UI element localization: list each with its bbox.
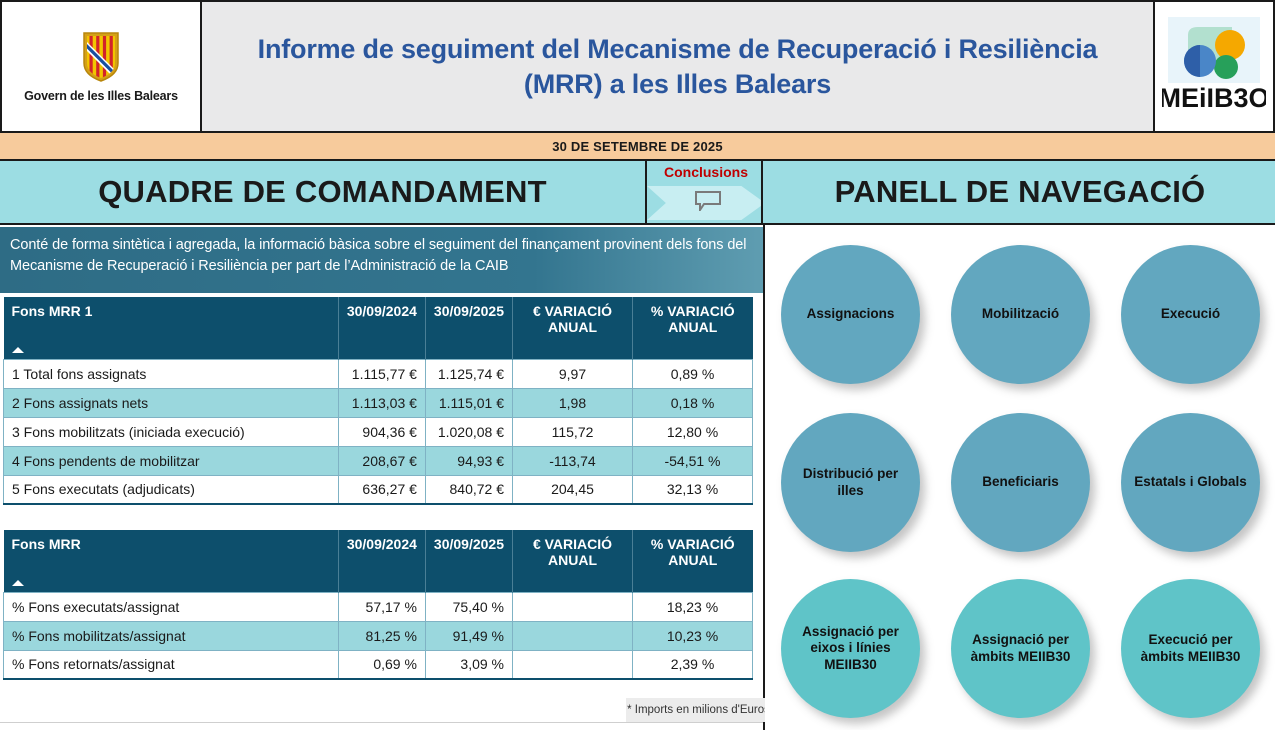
table2-col-2025[interactable]: 30/09/2025: [425, 530, 512, 592]
table2-col-label-text: Fons MRR: [12, 536, 81, 552]
row-var-eur: -113,74: [513, 446, 633, 475]
table-row: % Fons mobilitzats/assignat 81,25 % 91,4…: [4, 621, 753, 650]
row-var-eur: [513, 650, 633, 679]
row-var-pct: 10,23 %: [633, 621, 753, 650]
sort-ascending-icon[interactable]: [12, 580, 24, 586]
row-2025: 94,93 €: [425, 446, 512, 475]
row-var-pct: 2,39 %: [633, 650, 753, 679]
navigation-heading: PANELL DE NAVEGACIÓ: [765, 161, 1275, 223]
report-date-bar: 30 DE SETEMBRE DE 2025: [0, 133, 1275, 161]
row-2025: 75,40 %: [425, 592, 512, 621]
report-title-cell: Informe de seguiment del Mecanisme de Re…: [202, 0, 1155, 133]
page-title: Informe de seguiment del Mecanisme de Re…: [222, 32, 1133, 101]
row-var-pct: 18,23 %: [633, 592, 753, 621]
row-label: 3 Fons mobilitzats (iniciada execució): [4, 417, 339, 446]
table2-col-var-eur[interactable]: € VARIACIÓ ANUAL: [513, 530, 633, 592]
table1-head: Fons MRR 1 30/09/2024 30/09/2025 € VARIA…: [4, 297, 753, 359]
row-var-eur: [513, 592, 633, 621]
row-var-eur: 115,72: [513, 417, 633, 446]
balearic-shield-icon: [81, 31, 121, 83]
nav-circle-distribucio-per-illes[interactable]: Distribució per illes: [781, 413, 920, 552]
table1-col-var-eur[interactable]: € VARIACIÓ ANUAL: [513, 297, 633, 359]
nav-circle-label: Assignacions: [799, 306, 903, 322]
nav-circle-label: Mobilització: [974, 306, 1067, 322]
nav-circle-estatals-i-globals[interactable]: Estatals i Globals: [1121, 413, 1260, 552]
row-label: 4 Fons pendents de mobilitzar: [4, 446, 339, 475]
row-2025: 840,72 €: [425, 475, 512, 504]
table2-col-var-eur-l1: € VARIACIÓ: [533, 536, 612, 552]
row-label: % Fons mobilitzats/assignat: [4, 621, 339, 650]
nav-circle-label: Execució: [1153, 306, 1228, 322]
row-var-pct: 0,89 %: [633, 359, 753, 388]
svg-text:MEiIB3O: MEiIB3O: [1162, 83, 1266, 113]
table1-col-var-eur-l2: ANUAL: [548, 319, 597, 335]
table2-col-var-pct-l2: ANUAL: [668, 552, 717, 568]
table2-col-2024[interactable]: 30/09/2024: [338, 530, 425, 592]
table1-body: 1 Total fons assignats 1.115,77 € 1.125,…: [4, 359, 753, 504]
table-row: 2 Fons assignats nets 1.113,03 € 1.115,0…: [4, 388, 753, 417]
table2-header-row: Fons MRR 30/09/2024 30/09/2025 € VARIACI…: [4, 530, 753, 592]
row-2025: 3,09 %: [425, 650, 512, 679]
nav-circle-mobilitzacio[interactable]: Mobilització: [951, 245, 1090, 384]
table2-head: Fons MRR 30/09/2024 30/09/2025 € VARIACI…: [4, 530, 753, 592]
row-var-pct: 0,18 %: [633, 388, 753, 417]
table1-col-label[interactable]: Fons MRR 1: [4, 297, 339, 359]
government-label: Govern de les Illes Balears: [24, 89, 178, 103]
fons-mrr-ratios-table: Fons MRR 30/09/2024 30/09/2025 € VARIACI…: [3, 530, 753, 680]
row-2024: 208,67 €: [338, 446, 425, 475]
government-logo-cell: Govern de les Illes Balears: [0, 0, 202, 133]
table2-col-var-pct[interactable]: % VARIACIÓ ANUAL: [633, 530, 753, 592]
table-row: % Fons retornats/assignat 0,69 % 3,09 % …: [4, 650, 753, 679]
description-text: Conté de forma sintètica i agregada, la …: [10, 235, 749, 278]
row-label: % Fons retornats/assignat: [4, 650, 339, 679]
row-2024: 904,36 €: [338, 417, 425, 446]
dashboard-heading-text: QUADRE DE COMANDAMENT: [98, 174, 547, 210]
nav-circle-label: Distribució per illes: [781, 466, 920, 499]
row-var-eur: 204,45: [513, 475, 633, 504]
row-var-pct: 32,13 %: [633, 475, 753, 504]
row-2025: 1.020,08 €: [425, 417, 512, 446]
table1-header-row: Fons MRR 1 30/09/2024 30/09/2025 € VARIA…: [4, 297, 753, 359]
table-row: 4 Fons pendents de mobilitzar 208,67 € 9…: [4, 446, 753, 475]
table1-col-var-pct-l2: ANUAL: [668, 319, 717, 335]
fons-mrr-1-table: Fons MRR 1 30/09/2024 30/09/2025 € VARIA…: [3, 297, 753, 505]
table2-col-label[interactable]: Fons MRR: [4, 530, 339, 592]
footnote: * Imports en milions d'Euros: [626, 698, 771, 722]
nav-circle-beneficiaris[interactable]: Beneficiaris: [951, 413, 1090, 552]
row-2024: 81,25 %: [338, 621, 425, 650]
table1-col-var-pct[interactable]: % VARIACIÓ ANUAL: [633, 297, 753, 359]
row-label: 1 Total fons assignats: [4, 359, 339, 388]
sort-ascending-icon[interactable]: [12, 347, 24, 353]
header-row: Govern de les Illes Balears Informe de s…: [0, 0, 1275, 133]
dashboard-page: Govern de les Illes Balears Informe de s…: [0, 0, 1275, 730]
nav-circle-label: Execució per àmbits MEIIB30: [1121, 632, 1260, 665]
table1-col-var-pct-l1: % VARIACIÓ: [651, 303, 735, 319]
nav-circle-label: Beneficiaris: [974, 474, 1067, 490]
table-row: 1 Total fons assignats 1.115,77 € 1.125,…: [4, 359, 753, 388]
row-2024: 57,17 %: [338, 592, 425, 621]
row-2024: 1.115,77 €: [338, 359, 425, 388]
nav-circle-execucio[interactable]: Execució: [1121, 245, 1260, 384]
nav-circle-assignacio-per-eixos-i-linies[interactable]: Assignació per eixos i línies MEIIB30: [781, 579, 920, 718]
row-label: 5 Fons executats (adjudicats): [4, 475, 339, 504]
table2-col-var-eur-l2: ANUAL: [548, 552, 597, 568]
conclusions-button[interactable]: Conclusions: [645, 161, 763, 223]
navigation-panel: Assignacions Mobilització Execució Distr…: [765, 227, 1275, 730]
description-box: Conté de forma sintètica i agregada, la …: [0, 227, 763, 293]
table-row: 5 Fons executats (adjudicats) 636,27 € 8…: [4, 475, 753, 504]
row-2024: 0,69 %: [338, 650, 425, 679]
row-2025: 1.125,74 €: [425, 359, 512, 388]
nav-circle-label: Assignació per àmbits MEIIB30: [951, 632, 1090, 665]
table1-col-2024[interactable]: 30/09/2024: [338, 297, 425, 359]
table1-col-2025[interactable]: 30/09/2025: [425, 297, 512, 359]
nav-circle-assignacions[interactable]: Assignacions: [781, 245, 920, 384]
table2-body: % Fons executats/assignat 57,17 % 75,40 …: [4, 592, 753, 679]
table2-col-var-pct-l1: % VARIACIÓ: [651, 536, 735, 552]
nav-circle-label: Assignació per eixos i línies MEIIB30: [781, 624, 920, 673]
row-label: % Fons executats/assignat: [4, 592, 339, 621]
table-row: % Fons executats/assignat 57,17 % 75,40 …: [4, 592, 753, 621]
row-2024: 1.113,03 €: [338, 388, 425, 417]
row-var-eur: 9,97: [513, 359, 633, 388]
report-date: 30 DE SETEMBRE DE 2025: [552, 139, 723, 154]
meiib30-logo-cell: MEiIB3O: [1155, 0, 1275, 133]
row-var-eur: 1,98: [513, 388, 633, 417]
nav-circle-assignacio-per-ambits[interactable]: Assignació per àmbits MEIIB30: [951, 579, 1090, 718]
row-label: 2 Fons assignats nets: [4, 388, 339, 417]
row-var-pct: 12,80 %: [633, 417, 753, 446]
nav-circle-label: Estatals i Globals: [1126, 474, 1255, 490]
meiib30-logo: MEiIB3O: [1162, 13, 1266, 121]
table1-col-var-eur-l1: € VARIACIÓ: [533, 303, 612, 319]
dashboard-heading: QUADRE DE COMANDAMENT: [0, 161, 645, 223]
row-var-eur: [513, 621, 633, 650]
row-var-pct: -54,51 %: [633, 446, 753, 475]
conclusions-label: Conclusions: [647, 164, 763, 180]
nav-circle-execucio-per-ambits[interactable]: Execució per àmbits MEIIB30: [1121, 579, 1260, 718]
row-2025: 1.115,01 €: [425, 388, 512, 417]
section-header-band: QUADRE DE COMANDAMENT Conclusions PANELL…: [0, 161, 1275, 225]
speech-bubble-icon: [695, 191, 721, 211]
table-row: 3 Fons mobilitzats (iniciada execució) 9…: [4, 417, 753, 446]
table1-col-label-text: Fons MRR 1: [12, 303, 93, 319]
footer-strip: [0, 722, 763, 730]
row-2025: 91,49 %: [425, 621, 512, 650]
row-2024: 636,27 €: [338, 475, 425, 504]
navigation-heading-text: PANELL DE NAVEGACIÓ: [835, 174, 1206, 210]
